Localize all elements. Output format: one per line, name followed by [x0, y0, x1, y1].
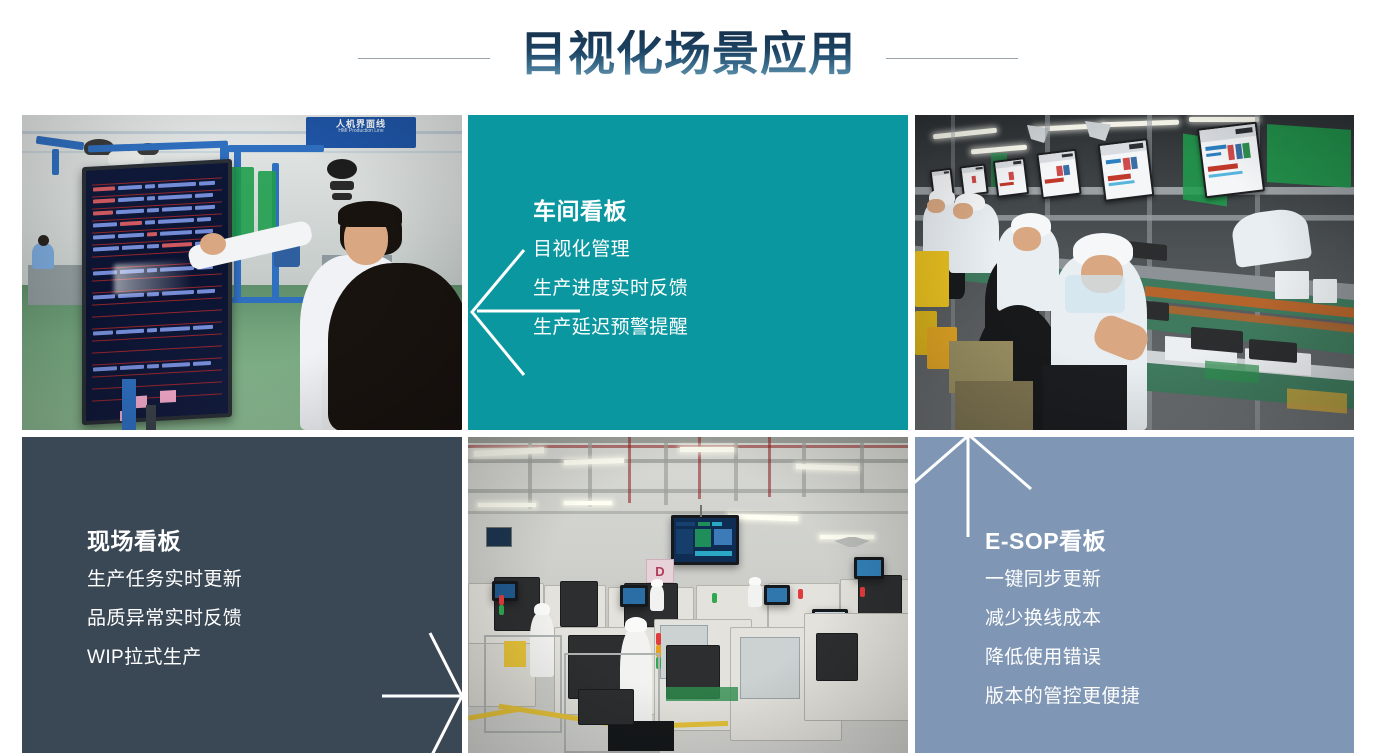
panel-item: 降低使用错误 — [985, 648, 1140, 667]
panel-workshop-kanban[interactable]: 车间看板 目视化管理 生产进度实时反馈 生产延迟预警提醒 — [468, 115, 908, 430]
panel-text-block: 现场看板 生产任务实时更新 品质异常实时反馈 WIP拉式生产 — [87, 530, 242, 667]
panel-item: 生产进度实时反馈 — [533, 279, 688, 298]
panel-site-kanban[interactable]: 现场看板 生产任务实时更新 品质异常实时反馈 WIP拉式生产 — [22, 437, 462, 753]
page-header: 目视化场景应用 — [0, 0, 1376, 110]
panel-item: 版本的管控更便捷 — [985, 687, 1140, 706]
panel-item: 生产延迟预警提醒 — [533, 318, 688, 337]
panel-item: 目视化管理 — [533, 240, 688, 259]
photo-esop-line — [915, 115, 1354, 430]
panel-item: 品质异常实时反馈 — [87, 609, 242, 628]
panel-item: 生产任务实时更新 — [87, 570, 242, 589]
panel-text-block: E-SOP看板 一键同步更新 减少换线成本 降低使用错误 版本的管控更便捷 — [985, 530, 1140, 706]
panel-title: 车间看板 — [533, 200, 688, 223]
page-title: 目视化场景应用 — [520, 30, 856, 81]
photo-smt-floor: D — [468, 437, 908, 753]
panel-title: E-SOP看板 — [985, 530, 1140, 553]
scene-grid: 人机界面线 HMI Production Line — [22, 115, 1354, 753]
panel-item: 一键同步更新 — [985, 570, 1140, 589]
panel-item: 减少换线成本 — [985, 609, 1140, 628]
panel-esop-kanban[interactable]: E-SOP看板 一键同步更新 减少换线成本 降低使用错误 版本的管控更便捷 — [915, 437, 1354, 753]
panel-text-block: 车间看板 目视化管理 生产进度实时反馈 生产延迟预警提醒 — [533, 200, 688, 337]
photo-workshop-dashboard: 人机界面线 HMI Production Line — [22, 115, 462, 430]
panel-item: WIP拉式生产 — [87, 648, 242, 667]
title-rule-right — [886, 58, 1018, 59]
panel-title: 现场看板 — [87, 530, 242, 553]
title-rule-left — [358, 58, 490, 59]
